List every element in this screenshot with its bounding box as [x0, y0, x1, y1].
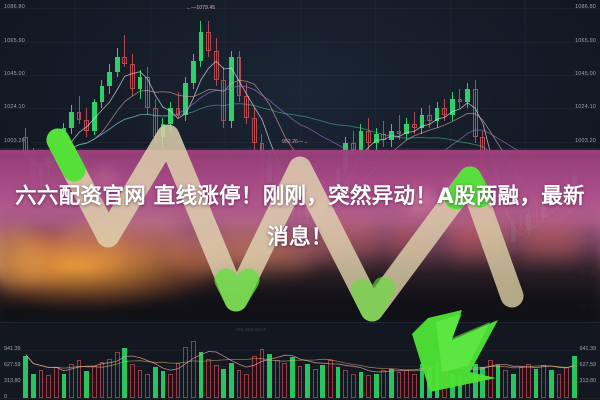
candle-body — [427, 115, 432, 121]
candle-body — [435, 108, 440, 121]
candle-body — [389, 131, 394, 141]
candle-body — [138, 77, 143, 90]
volume-bar — [145, 374, 150, 398]
volume-bar — [161, 371, 166, 398]
volume-bar — [122, 348, 127, 398]
volume-bar — [23, 356, 28, 398]
price-axis-label-right: 1086.80 — [575, 5, 596, 10]
candle-body — [191, 61, 196, 83]
volume-bar — [427, 367, 432, 398]
candle-body — [122, 57, 127, 63]
volume-bar — [389, 369, 394, 398]
volume-bar — [183, 347, 188, 398]
candle-body — [92, 102, 97, 131]
volume-bar — [564, 367, 569, 398]
volume-bar — [336, 367, 341, 398]
volume-bar — [305, 364, 310, 398]
candle-body — [176, 108, 181, 114]
candle-body — [221, 80, 226, 121]
candle-body — [374, 134, 379, 144]
volume-chart-panel[interactable]: 941.39941.39627.59627.59313.80313.800 — [0, 322, 600, 400]
price-axis-label-left: 1086.80 — [4, 5, 25, 10]
volume-bar — [206, 359, 211, 398]
volume-bar — [503, 370, 508, 398]
volume-bar — [138, 370, 143, 398]
volume-bar — [130, 364, 135, 398]
volume-bar — [221, 369, 226, 398]
volume-bar — [313, 369, 318, 398]
candle-wick — [79, 96, 80, 125]
candle-body — [153, 108, 158, 137]
volume-bar — [31, 374, 36, 398]
price-axis-label-left: 1024.10 — [4, 105, 25, 110]
volume-bar — [511, 374, 516, 398]
candle-body — [442, 108, 447, 114]
volume-bar — [496, 365, 501, 398]
price-axis-label-right: 1065.90 — [575, 39, 596, 44]
volume-bar — [176, 363, 181, 398]
volume-bar — [420, 364, 425, 398]
price-axis-label-right: 1003.20 — [575, 139, 596, 144]
volume-bar — [153, 367, 158, 398]
volume-bar — [229, 363, 234, 398]
grid-line — [0, 350, 600, 351]
volume-bar — [488, 360, 493, 398]
candle-body — [252, 118, 257, 144]
volume-bar — [328, 360, 333, 398]
volume-bar — [107, 359, 112, 398]
candle-body — [420, 115, 425, 128]
candle-wick — [399, 115, 400, 141]
volume-axis-label-right: 627.59 — [580, 363, 597, 368]
volume-bar — [366, 375, 371, 398]
candle-body — [450, 99, 455, 115]
volume-bar — [526, 364, 531, 398]
volume-bar — [252, 356, 257, 398]
price-axis-label-left: 1045.00 — [4, 72, 25, 77]
volume-axis-label-left: 941.39 — [4, 347, 21, 352]
volume-bar — [267, 354, 272, 398]
volume-bar — [244, 374, 249, 398]
volume-axis-label-right: 313.80 — [580, 379, 597, 384]
volume-bar — [397, 372, 402, 398]
candle-body — [412, 124, 417, 127]
volume-bar — [343, 370, 348, 398]
volume-bar — [84, 371, 89, 398]
candle-body — [244, 96, 249, 118]
candle-body — [145, 77, 150, 109]
grid-line — [0, 398, 600, 399]
volume-bar — [374, 374, 379, 398]
price-axis-label-left: 1065.90 — [4, 39, 25, 44]
candle-body — [69, 112, 74, 128]
volume-bar — [412, 374, 417, 398]
volume-bar — [320, 365, 325, 398]
volume-header-text: VOL MA5 MA10 — [236, 328, 266, 332]
candle-body — [199, 32, 204, 61]
candle-body — [366, 131, 371, 144]
volume-bar — [557, 374, 562, 398]
candle-body — [473, 89, 478, 137]
volume-axis-label-right: 941.39 — [580, 347, 597, 352]
candle-body — [107, 72, 112, 86]
volume-bar — [381, 370, 386, 398]
volume-bar — [115, 352, 120, 398]
price-axis-label-right: 1024.10 — [575, 105, 596, 110]
candle-body — [206, 32, 211, 51]
volume-axis-label-left: 313.80 — [4, 379, 21, 384]
volume-bar — [62, 374, 67, 398]
volume-bar — [46, 375, 51, 398]
candle-body — [214, 51, 219, 80]
price-axis-label-left: 1003.20 — [4, 139, 25, 144]
candle-body — [381, 134, 386, 140]
volume-bar — [298, 366, 303, 398]
volume-bar — [442, 369, 447, 398]
volume-bar — [572, 356, 577, 398]
candle-body — [77, 112, 82, 120]
candle-body — [351, 143, 356, 149]
candle-body — [404, 124, 409, 134]
volume-bar — [275, 360, 280, 398]
volume-bar — [69, 364, 74, 398]
volume-bar — [77, 360, 82, 398]
chart-low-annotation: 952.26—→ — [282, 140, 308, 145]
candle-body — [84, 120, 89, 131]
volume-bar — [458, 375, 463, 398]
chart-high-annotation: ←—1079.45 — [186, 6, 215, 11]
volume-bar — [214, 365, 219, 398]
volume-bar — [534, 369, 539, 398]
volume-bar — [39, 370, 44, 398]
candle-body — [229, 57, 234, 121]
volume-bar — [237, 370, 242, 398]
volume-bar — [541, 365, 546, 398]
volume-bar — [54, 367, 59, 398]
volume-bar — [282, 363, 287, 398]
candle-body — [100, 86, 105, 102]
screenshot-stage: 1086.801086.801065.901065.901045.001045.… — [0, 0, 600, 400]
candle-body — [397, 131, 402, 134]
candle-body — [458, 99, 463, 102]
candle-wick — [414, 112, 415, 134]
volume-bar — [100, 362, 105, 398]
volume-bar — [519, 367, 524, 398]
candle-body — [168, 108, 173, 124]
volume-bar — [92, 366, 97, 398]
volume-axis-label-left: 0 — [4, 395, 7, 400]
candle-body — [183, 83, 188, 115]
volume-axis-label-left: 627.59 — [4, 363, 21, 368]
volume-bar — [450, 374, 455, 398]
candle-body — [115, 57, 120, 71]
candle-body — [237, 57, 242, 95]
candle-body — [130, 64, 135, 90]
volume-bar — [435, 362, 440, 398]
volume-bar — [199, 352, 204, 398]
volume-bar — [260, 349, 265, 398]
volume-bar — [465, 370, 470, 398]
volume-bar — [290, 357, 295, 398]
volume-bar — [191, 341, 196, 398]
candle-body — [359, 131, 364, 150]
volume-bar — [351, 374, 356, 398]
overlay-top-edge — [0, 150, 600, 153]
volume-bar — [404, 370, 409, 398]
candle-body — [62, 128, 67, 146]
volume-bar — [549, 370, 554, 398]
candle-body — [161, 124, 166, 137]
candle-body — [465, 89, 470, 102]
volume-bar — [359, 372, 364, 398]
volume-bar — [168, 374, 173, 398]
volume-bar — [480, 367, 485, 398]
price-axis-label-right: 1045.00 — [575, 72, 596, 77]
headline-text: 六六配资官网 直线涨停！刚刚，突然异动！A股两融，最新消息！ — [0, 176, 600, 258]
volume-bar — [473, 364, 478, 398]
